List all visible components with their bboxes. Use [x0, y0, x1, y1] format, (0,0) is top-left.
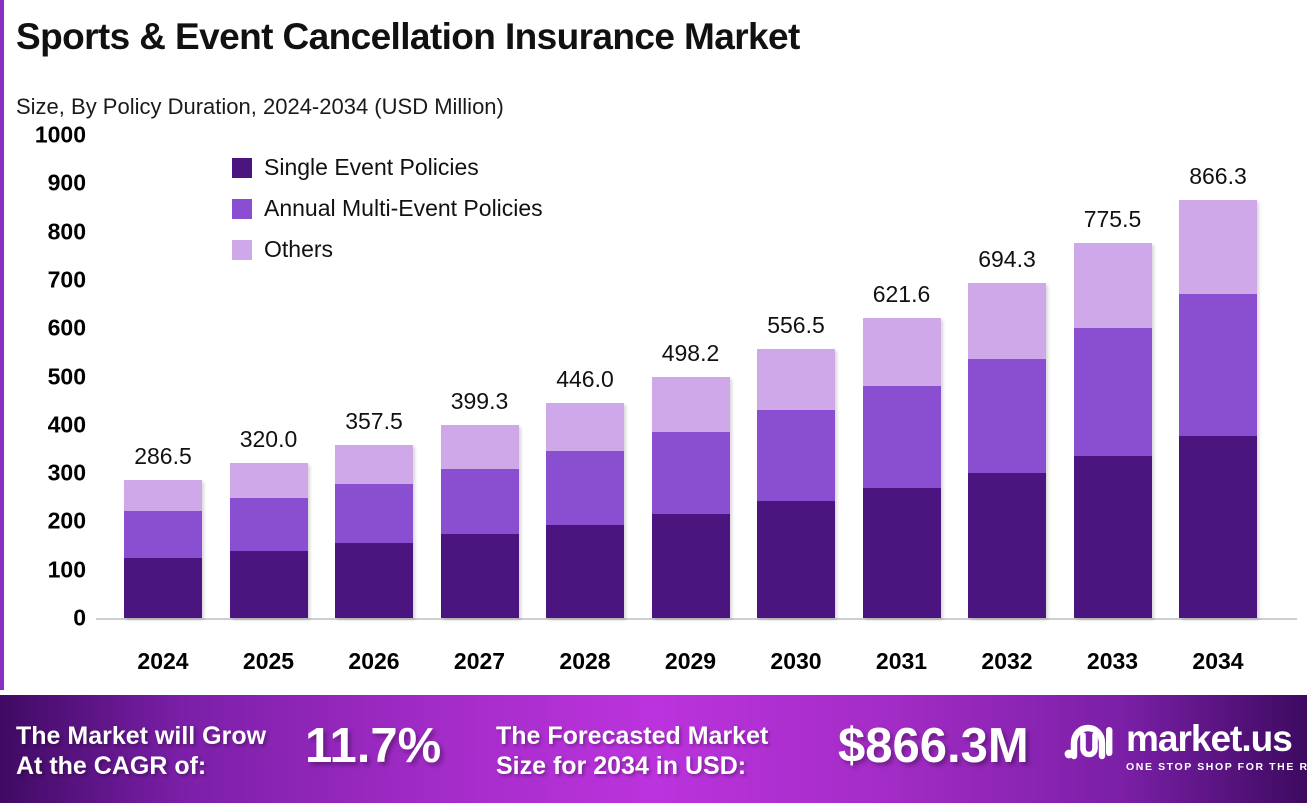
- bar-slot: 320.0: [230, 463, 308, 618]
- bar-segment[interactable]: [1179, 200, 1257, 295]
- y-axis-tick: 900: [48, 170, 86, 197]
- bar-slot: 556.5: [757, 349, 835, 618]
- bar-slot: 446.0: [546, 403, 624, 618]
- legend-label: Annual Multi-Event Policies: [264, 195, 543, 222]
- y-axis-tick: 500: [48, 363, 86, 390]
- bar-segment[interactable]: [441, 534, 519, 618]
- cagr-label: The Market will Grow At the CAGR of:: [16, 722, 266, 781]
- cagr-value: 11.7%: [305, 718, 441, 774]
- bar-total-label: 357.5: [345, 408, 403, 435]
- stacked-bar[interactable]: 399.3: [441, 425, 519, 618]
- x-axis-tick: 2025: [230, 648, 308, 675]
- legend-item[interactable]: Annual Multi-Event Policies: [232, 195, 543, 222]
- bar-segment[interactable]: [757, 501, 835, 618]
- cagr-label-line2: At the CAGR of:: [16, 752, 266, 782]
- chart-plot-area: 10009008007006005004003002001000 286.532…: [0, 135, 1307, 635]
- stacked-bar[interactable]: 286.5: [124, 480, 202, 618]
- bar-segment[interactable]: [652, 377, 730, 431]
- y-axis: 10009008007006005004003002001000: [0, 135, 100, 635]
- legend-item[interactable]: Others: [232, 236, 543, 263]
- bar-segment[interactable]: [335, 543, 413, 618]
- bar-total-label: 399.3: [451, 388, 509, 415]
- legend-swatch-icon: [232, 158, 252, 178]
- bar-segment[interactable]: [546, 403, 624, 452]
- page-subtitle: Size, By Policy Duration, 2024-2034 (USD…: [16, 94, 504, 120]
- page-title: Sports & Event Cancellation Insurance Ma…: [16, 16, 800, 58]
- bar-segment[interactable]: [230, 498, 308, 551]
- stacked-bar[interactable]: 498.2: [652, 377, 730, 618]
- bar-segment[interactable]: [335, 484, 413, 543]
- bar-slot: 286.5: [124, 480, 202, 618]
- bar-segment[interactable]: [863, 488, 941, 618]
- chart-infographic: Sports & Event Cancellation Insurance Ma…: [0, 0, 1307, 803]
- bar-segment[interactable]: [652, 514, 730, 618]
- bar-slot: 621.6: [863, 318, 941, 618]
- x-axis-tick: 2033: [1074, 648, 1152, 675]
- stacked-bar[interactable]: 694.3: [968, 283, 1046, 618]
- summary-banner: The Market will Grow At the CAGR of: 11.…: [0, 695, 1307, 803]
- market-us-logo[interactable]: market.us ONE STOP SHOP FOR THE REPORTS: [1062, 721, 1307, 773]
- stacked-bar[interactable]: 357.5: [335, 445, 413, 618]
- bar-segment[interactable]: [124, 558, 202, 618]
- forecast-label-line2: Size for 2034 in USD:: [496, 752, 768, 782]
- y-axis-tick: 0: [73, 605, 86, 632]
- bar-segment[interactable]: [968, 473, 1046, 618]
- bar-segment[interactable]: [652, 432, 730, 514]
- bar-segment[interactable]: [1074, 456, 1152, 618]
- bar-slot: 866.3: [1179, 200, 1257, 618]
- bar-slot: 775.5: [1074, 243, 1152, 618]
- bar-segment[interactable]: [441, 425, 519, 469]
- bar-total-label: 866.3: [1189, 163, 1247, 190]
- bar-segment[interactable]: [968, 283, 1046, 359]
- stacked-bar[interactable]: 621.6: [863, 318, 941, 618]
- forecast-label-line1: The Forecasted Market: [496, 722, 768, 752]
- bar-slot: 399.3: [441, 425, 519, 618]
- x-axis-tick: 2029: [652, 648, 730, 675]
- legend-label: Others: [264, 236, 333, 263]
- forecast-label: The Forecasted Market Size for 2034 in U…: [496, 722, 768, 781]
- y-axis-tick: 400: [48, 411, 86, 438]
- legend-swatch-icon: [232, 199, 252, 219]
- x-axis-tick: 2028: [546, 648, 624, 675]
- x-axis: 2024202520262027202820292030203120322033…: [100, 648, 1299, 682]
- bar-segment[interactable]: [124, 480, 202, 511]
- bar-total-label: 320.0: [240, 426, 298, 453]
- bar-segment[interactable]: [757, 349, 835, 410]
- bar-slot: 498.2: [652, 377, 730, 618]
- stacked-bar[interactable]: 446.0: [546, 403, 624, 618]
- bar-segment[interactable]: [230, 551, 308, 618]
- stacked-bar[interactable]: 556.5: [757, 349, 835, 618]
- y-axis-tick: 100: [48, 556, 86, 583]
- legend-item[interactable]: Single Event Policies: [232, 154, 543, 181]
- legend-label: Single Event Policies: [264, 154, 479, 181]
- logo-name: market.us: [1126, 721, 1307, 756]
- bar-total-label: 694.3: [978, 246, 1036, 273]
- market-us-logo-text: market.us ONE STOP SHOP FOR THE REPORTS: [1126, 721, 1307, 773]
- x-axis-tick: 2030: [757, 648, 835, 675]
- bar-segment[interactable]: [968, 359, 1046, 473]
- stacked-bar[interactable]: 775.5: [1074, 243, 1152, 618]
- bar-segment[interactable]: [335, 445, 413, 484]
- bar-segment[interactable]: [757, 410, 835, 501]
- forecast-value: $866.3M: [838, 718, 1029, 774]
- chart-legend: Single Event PoliciesAnnual Multi-Event …: [232, 154, 543, 277]
- x-axis-tick: 2034: [1179, 648, 1257, 675]
- x-axis-tick: 2024: [124, 648, 202, 675]
- x-axis-tick: 2032: [968, 648, 1046, 675]
- bar-total-label: 556.5: [767, 312, 825, 339]
- logo-tagline: ONE STOP SHOP FOR THE REPORTS: [1126, 761, 1307, 773]
- bar-segment[interactable]: [1074, 243, 1152, 328]
- bar-slot: 357.5: [335, 445, 413, 618]
- bar-slot: 694.3: [968, 283, 1046, 618]
- y-axis-tick: 300: [48, 460, 86, 487]
- bar-segment[interactable]: [441, 469, 519, 535]
- legend-swatch-icon: [232, 240, 252, 260]
- bar-total-label: 775.5: [1084, 206, 1142, 233]
- bar-segment[interactable]: [863, 318, 941, 386]
- y-axis-tick: 1000: [35, 122, 86, 149]
- stacked-bar[interactable]: 320.0: [230, 463, 308, 618]
- x-axis-tick: 2031: [863, 648, 941, 675]
- market-us-logo-icon: [1062, 721, 1116, 763]
- bar-total-label: 446.0: [556, 366, 614, 393]
- bar-segment[interactable]: [230, 463, 308, 498]
- y-axis-tick: 200: [48, 508, 86, 535]
- y-axis-tick: 600: [48, 315, 86, 342]
- bar-segment[interactable]: [124, 511, 202, 558]
- bar-segment[interactable]: [1179, 294, 1257, 436]
- bar-segment[interactable]: [546, 451, 624, 524]
- bar-segment[interactable]: [863, 386, 941, 488]
- bar-total-label: 621.6: [873, 281, 931, 308]
- x-axis-tick: 2027: [441, 648, 519, 675]
- y-axis-tick: 800: [48, 218, 86, 245]
- bar-segment[interactable]: [1074, 328, 1152, 455]
- stacked-bar[interactable]: 866.3: [1179, 200, 1257, 618]
- bar-total-label: 286.5: [134, 443, 192, 470]
- bar-segment[interactable]: [546, 525, 624, 618]
- y-axis-tick: 700: [48, 266, 86, 293]
- bar-segment[interactable]: [1179, 436, 1257, 618]
- cagr-label-line1: The Market will Grow: [16, 722, 266, 752]
- x-axis-tick: 2026: [335, 648, 413, 675]
- bar-total-label: 498.2: [662, 340, 720, 367]
